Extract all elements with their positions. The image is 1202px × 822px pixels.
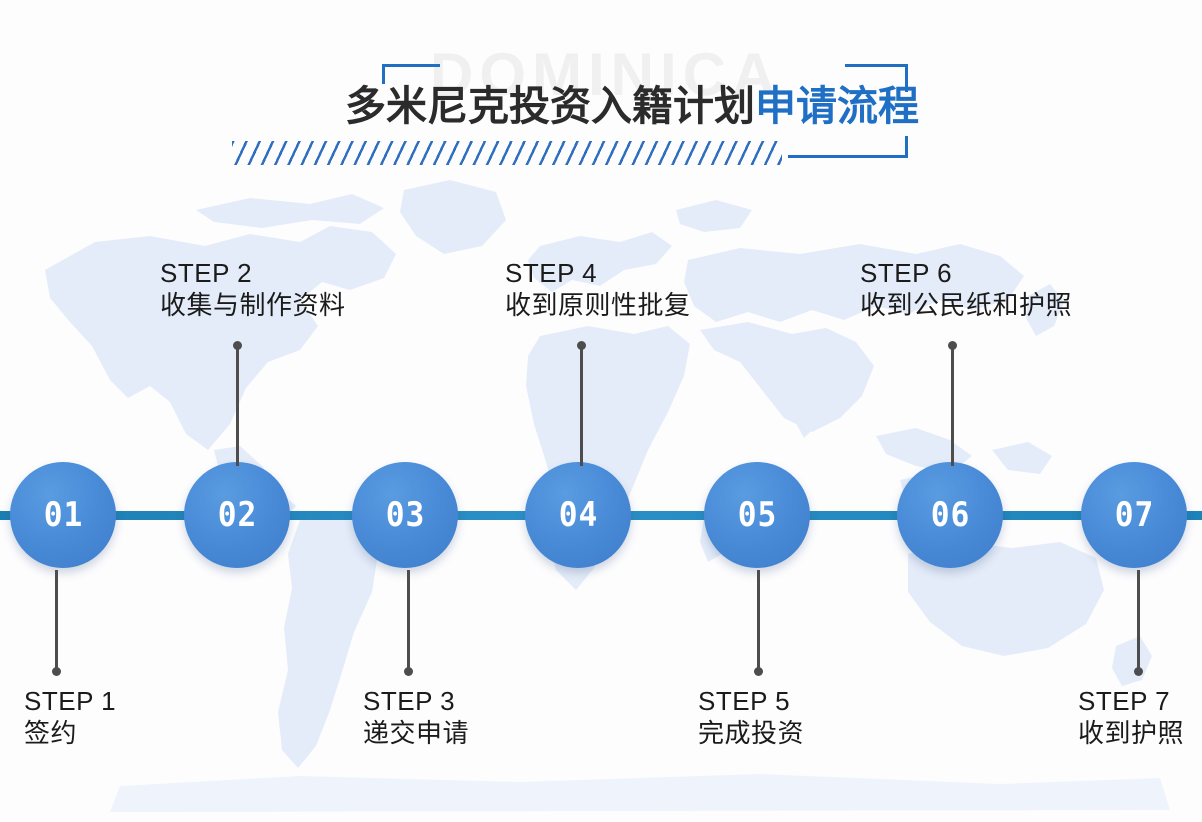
connector-line-02 (236, 346, 239, 466)
timeline-node-03[interactable]: 03 (352, 462, 458, 568)
node-number-06: 06 (930, 498, 970, 532)
connector-dot-02 (233, 341, 242, 350)
timeline-node-01[interactable]: 01 (10, 462, 116, 568)
step-label-05: STEP 5 完成投资 (698, 685, 804, 752)
step-en-06: STEP 6 (860, 257, 1072, 290)
step-en-02: STEP 2 (160, 257, 346, 290)
node-number-05: 05 (737, 498, 777, 532)
node-number-07: 07 (1114, 498, 1154, 532)
step-en-03: STEP 3 (363, 685, 469, 718)
step-label-07: STEP 7 收到护照 (1078, 685, 1184, 752)
node-number-01: 01 (43, 498, 83, 532)
connector-line-06 (951, 346, 954, 466)
node-number-03: 03 (385, 498, 425, 532)
timeline-node-05[interactable]: 05 (704, 462, 810, 568)
connector-dot-01 (52, 667, 61, 676)
step-cn-04: 收到原则性批复 (505, 290, 691, 323)
step-label-01: STEP 1 签约 (24, 685, 116, 752)
node-number-04: 04 (558, 498, 598, 532)
step-label-06: STEP 6 收到公民纸和护照 (860, 257, 1072, 324)
page-title: 多米尼克投资入籍计划申请流程 (345, 86, 919, 127)
timeline-node-02[interactable]: 02 (184, 462, 290, 568)
title-block: DOMINICA 多米尼克投资入籍计划申请流程 (0, 0, 1202, 200)
step-en-04: STEP 4 (505, 257, 691, 290)
infographic-canvas: DOMINICA 多米尼克投资入籍计划申请流程 01 STEP 1 签约 02 … (0, 0, 1202, 822)
step-cn-06: 收到公民纸和护照 (860, 290, 1072, 323)
node-number-02: 02 (217, 498, 257, 532)
step-cn-03: 递交申请 (363, 718, 469, 751)
bracket-right-bottom-corner-icon (788, 136, 908, 158)
connector-line-01 (55, 570, 58, 670)
connector-line-03 (407, 570, 410, 670)
timeline-node-06[interactable]: 06 (897, 462, 1003, 568)
connector-dot-05 (754, 667, 763, 676)
connector-line-07 (1137, 570, 1140, 670)
step-en-01: STEP 1 (24, 685, 116, 718)
connector-line-05 (757, 570, 760, 670)
step-label-02: STEP 2 收集与制作资料 (160, 257, 346, 324)
timeline-node-07[interactable]: 07 (1081, 462, 1187, 568)
step-cn-05: 完成投资 (698, 718, 804, 751)
step-en-05: STEP 5 (698, 685, 804, 718)
bracket-left-corner-icon (382, 64, 440, 84)
connector-dot-07 (1134, 667, 1143, 676)
step-label-03: STEP 3 递交申请 (363, 685, 469, 752)
timeline-node-04[interactable]: 04 (525, 462, 631, 568)
step-cn-02: 收集与制作资料 (160, 290, 346, 323)
step-en-07: STEP 7 (1078, 685, 1184, 718)
page-title-primary: 多米尼克投资入籍计划 (345, 82, 755, 130)
connector-dot-06 (948, 341, 957, 350)
page-title-accent: 申请流程 (755, 82, 919, 130)
connector-line-04 (580, 346, 583, 466)
step-label-04: STEP 4 收到原则性批复 (505, 257, 691, 324)
connector-dot-04 (577, 341, 586, 350)
connector-dot-03 (404, 667, 413, 676)
diagonal-hatch-decoration (232, 141, 782, 165)
step-cn-07: 收到护照 (1078, 718, 1184, 751)
step-cn-01: 签约 (24, 718, 116, 751)
